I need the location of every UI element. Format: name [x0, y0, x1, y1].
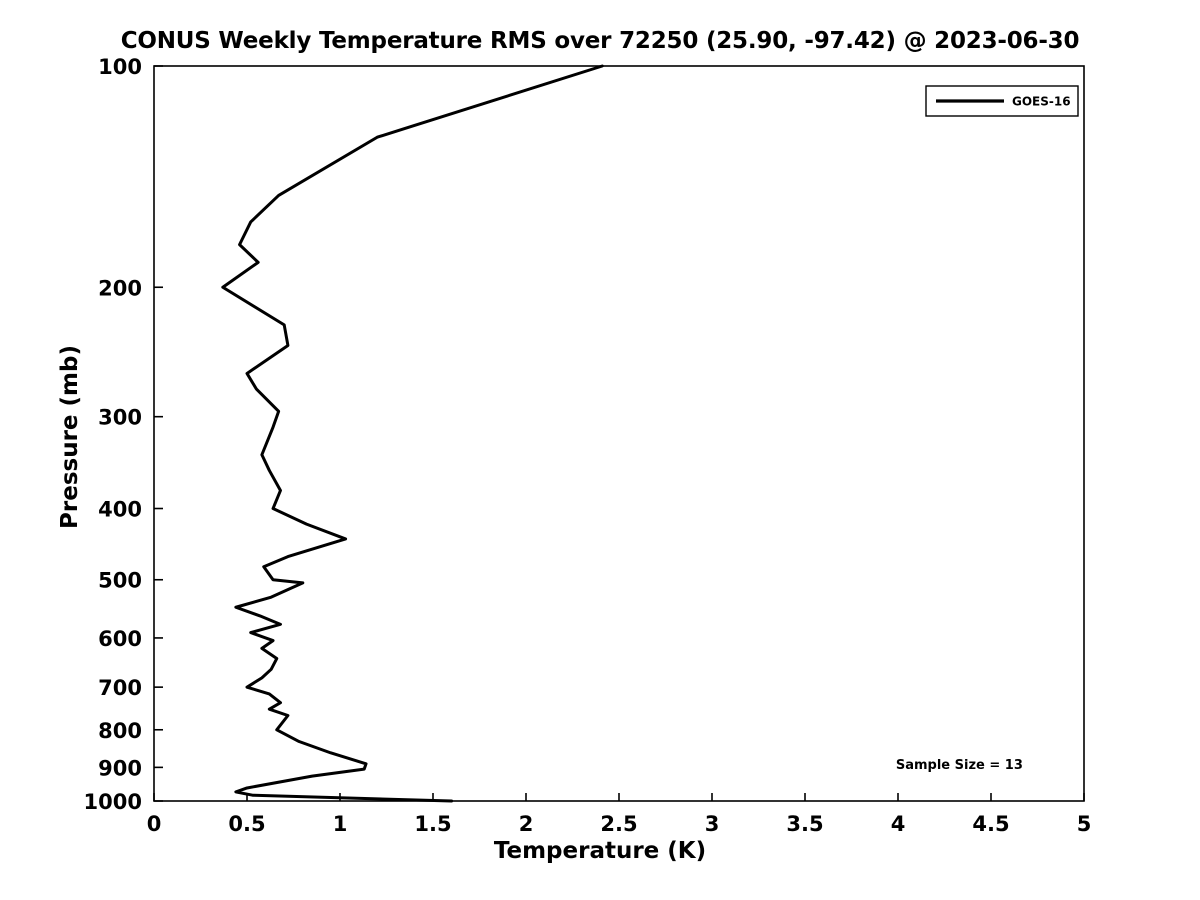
x-tick-label: 1 — [333, 812, 348, 836]
x-tick-label: 2 — [519, 812, 534, 836]
x-tick-label: 5 — [1077, 812, 1092, 836]
y-tick-label: 600 — [98, 627, 142, 651]
x-tick-label: 3.5 — [786, 812, 823, 836]
annotation-group: Sample Size = 13 — [896, 758, 1023, 773]
x-tick-label: 2.5 — [600, 812, 637, 836]
y-tick-label: 1000 — [84, 790, 142, 814]
y-tick-label: 300 — [98, 406, 142, 430]
series-group — [223, 66, 602, 801]
y-tick-label: 900 — [98, 756, 142, 780]
figure-canvas: CONUS Weekly Temperature RMS over 72250 … — [0, 0, 1200, 900]
x-tick-label: 0.5 — [228, 812, 265, 836]
chart-legend: GOES-16 — [926, 86, 1078, 116]
y-tick-label: 100 — [98, 55, 142, 79]
legend-label-goes-16: GOES-16 — [1012, 95, 1071, 109]
plot-area: 00.511.522.533.544.551002003004005006007… — [0, 0, 1200, 900]
x-axis-label: Temperature (K) — [0, 838, 1200, 864]
y-tick-label: 800 — [98, 719, 142, 743]
y-axis-label: Pressure (mb) — [57, 307, 83, 567]
y-tick-label: 500 — [98, 569, 142, 593]
y-tick-label: 400 — [98, 498, 142, 522]
y-tick-label: 700 — [98, 676, 142, 700]
x-tick-label: 4.5 — [972, 812, 1009, 836]
x-tick-label: 1.5 — [414, 812, 451, 836]
sample-size-annotation: Sample Size = 13 — [896, 758, 1023, 773]
y-tick-label: 200 — [98, 276, 142, 300]
x-tick-label: 3 — [705, 812, 720, 836]
x-tick-label: 4 — [891, 812, 906, 836]
series-line-goes-16 — [223, 66, 602, 801]
x-tick-label: 0 — [147, 812, 162, 836]
